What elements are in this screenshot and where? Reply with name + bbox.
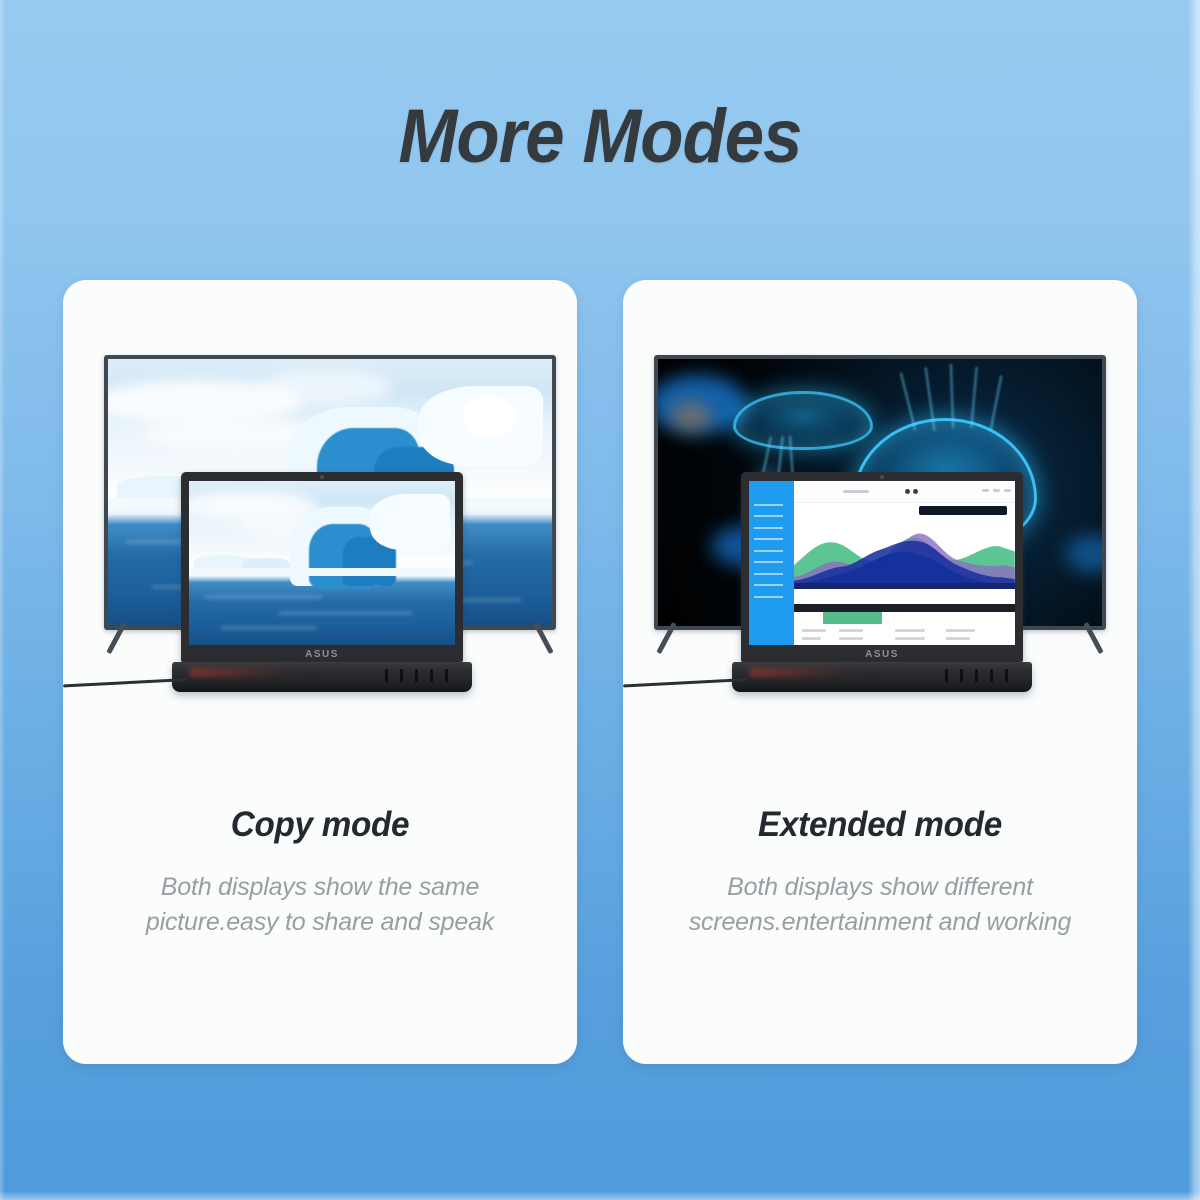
card-title-extended: Extended mode <box>636 805 1124 845</box>
keyboard-backlight-glow <box>750 668 876 677</box>
dashboard-topbar <box>794 481 1015 503</box>
jellyfish-small <box>733 391 872 450</box>
dashboard-sidebar <box>749 481 794 645</box>
card-title-copy: Copy mode <box>76 805 564 845</box>
right-edge-highlight <box>1188 0 1200 1200</box>
laptop-extended: ASUS <box>741 472 1023 662</box>
copy-mode-illustration: ASUS <box>63 280 577 780</box>
keyboard-backlight-glow <box>190 668 316 677</box>
bottom-edge-highlight <box>0 1191 1200 1200</box>
extended-mode-illustration: ASUS <box>623 280 1137 780</box>
card-extended-mode: ASUS Extended mode Both displays show di… <box>623 280 1137 1064</box>
dashboard-divider-blue <box>794 583 1015 590</box>
laptop-brand-label: ASUS <box>181 649 463 660</box>
left-edge-highlight <box>0 0 5 1200</box>
laptop-screen-dashboard <box>749 481 1015 645</box>
hdmi-cable <box>623 678 747 687</box>
dashboard-divider-dark <box>794 604 1015 612</box>
hdmi-cable <box>63 678 187 687</box>
laptop-lid: ASUS <box>181 472 463 662</box>
dashboard-kpi-strip <box>919 506 1007 516</box>
iceberg-scene-mirror <box>189 481 455 645</box>
card-description-extended: Both displays show different screens.ent… <box>657 870 1103 940</box>
laptop-brand-label: ASUS <box>741 649 1023 660</box>
laptop-base <box>732 662 1032 692</box>
card-description-copy: Both displays show the same picture.easy… <box>97 870 543 940</box>
laptop-base <box>172 662 472 692</box>
dashboard-area-chart <box>794 517 1015 586</box>
analytics-dashboard <box>749 481 1015 645</box>
marketing-banner: More Modes <box>0 0 1200 1200</box>
dashboard-highlight-bar <box>823 612 882 623</box>
page-title: More Modes <box>42 99 1158 175</box>
laptop-lid: ASUS <box>741 472 1023 662</box>
laptop-copy: ASUS <box>181 472 463 662</box>
card-copy-mode: ASUS Copy mode Both displays show the sa… <box>63 280 577 1064</box>
laptop-screen-iceberg <box>189 481 455 645</box>
